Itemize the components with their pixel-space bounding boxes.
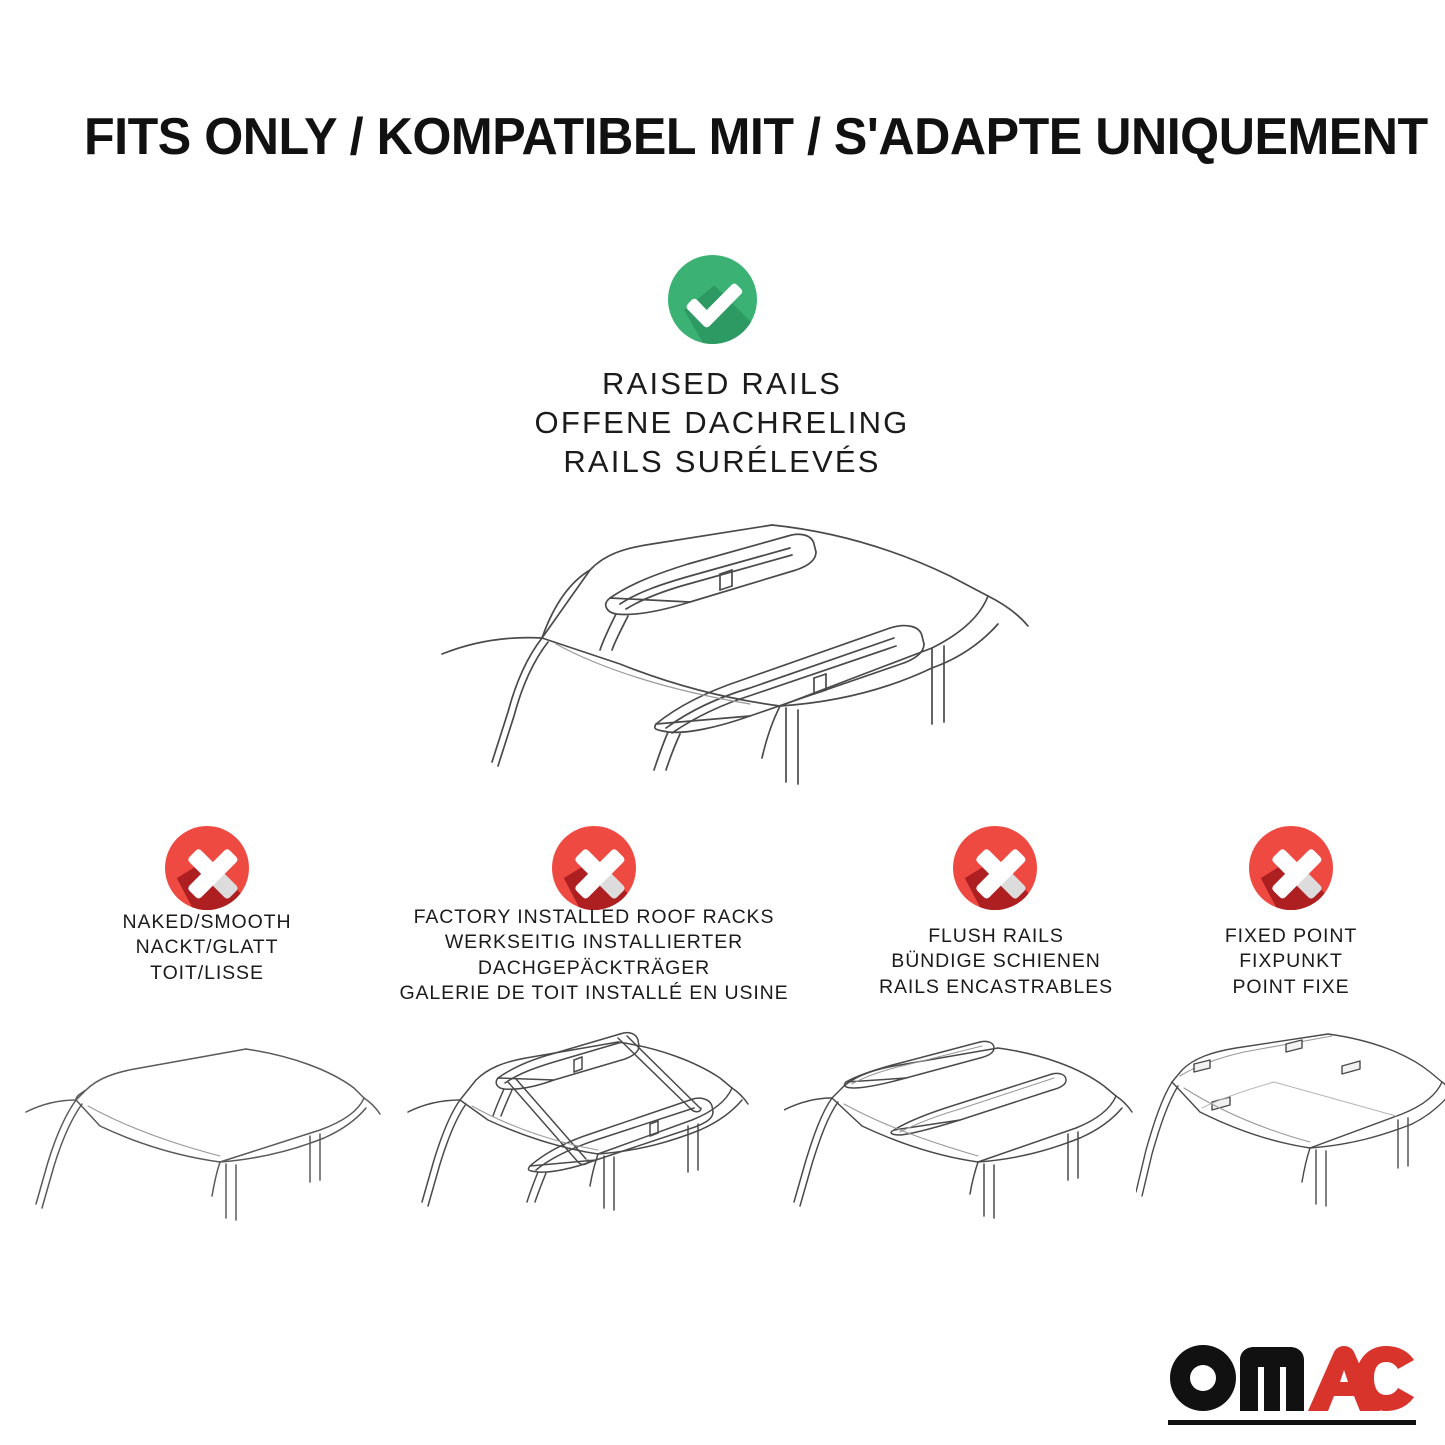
fixed-point-caption: FIXED POINT FIXPUNKT POINT FIXE <box>1151 924 1431 1000</box>
flush-rails-roof-illustration <box>784 1032 1144 1247</box>
factory-roof-racks-caption: FACTORY INSTALLED ROOF RACKS WERKSEITIG … <box>373 905 815 1006</box>
x-circle-icon <box>953 826 1037 910</box>
product-compatibility-infographic: FITS ONLY / KOMPATIBEL MIT / S'ADAPTE UN… <box>0 0 1445 1445</box>
fixed-point-roof-illustration <box>1136 1032 1445 1247</box>
factory-roof-racks-illustration <box>402 1012 762 1244</box>
raised-rails-roof-illustration <box>420 492 1050 792</box>
check-circle-icon <box>668 255 757 344</box>
x-circle-icon <box>1249 826 1333 910</box>
naked-smooth-caption: NAKED/SMOOTH NACKT/GLATT TOIT/LISSE <box>47 910 367 986</box>
x-circle-icon <box>165 826 249 910</box>
x-circle-icon <box>552 826 636 910</box>
raised-rails-caption: RAISED RAILS OFFENE DACHRELING RAILS SUR… <box>422 364 1022 481</box>
omac-logo <box>1168 1344 1416 1430</box>
naked-smooth-roof-illustration <box>24 1032 384 1247</box>
flush-rails-caption: FLUSH RAILS BÜNDIGE SCHIENEN RAILS ENCAS… <box>836 924 1156 1000</box>
page-title: FITS ONLY / KOMPATIBEL MIT / S'ADAPTE UN… <box>84 107 1329 167</box>
